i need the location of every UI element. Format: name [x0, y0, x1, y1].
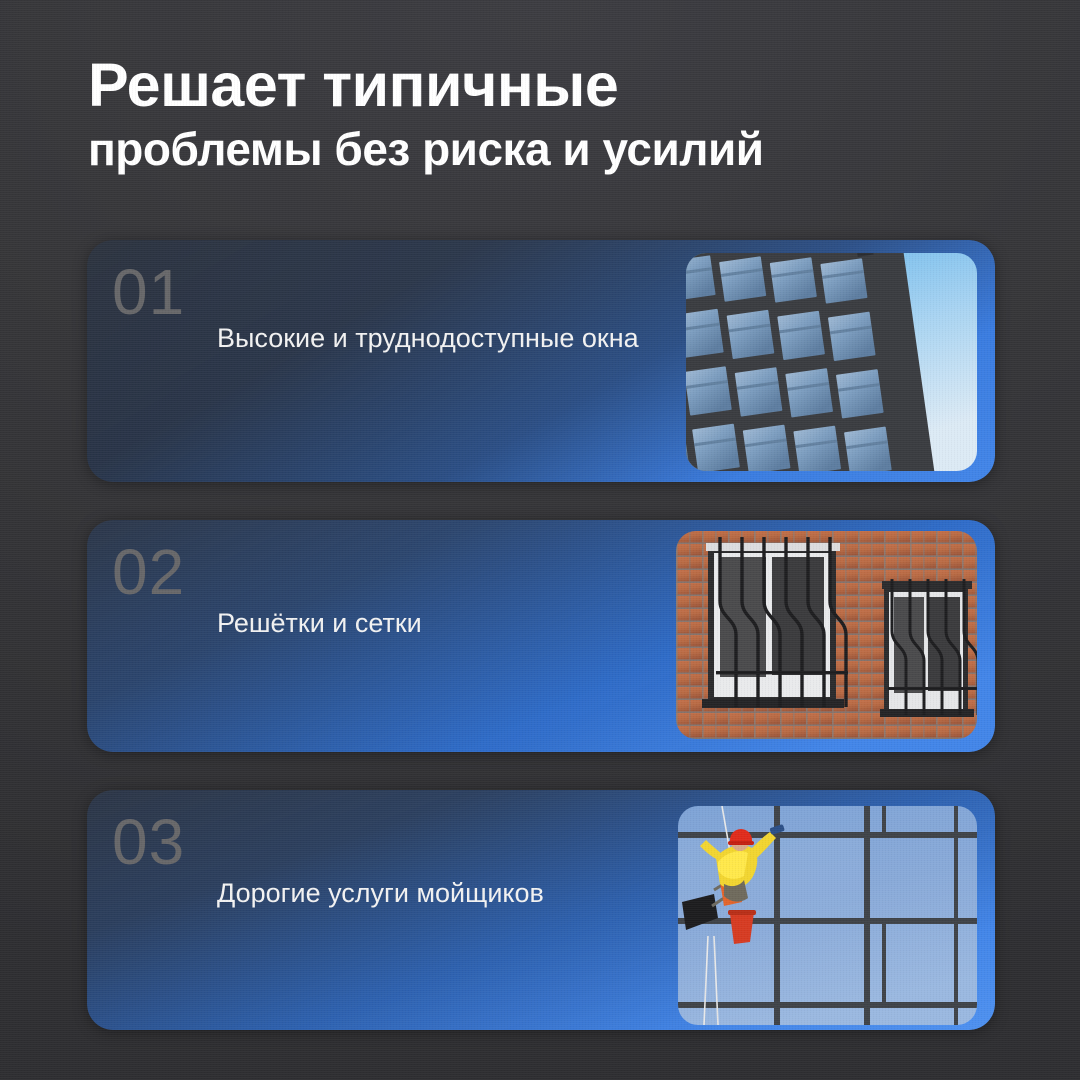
card-label: Высокие и труднодоступные окна: [217, 320, 639, 356]
card-number: 01: [112, 260, 185, 324]
industrial-climber-photo: [678, 806, 977, 1025]
tall-office-building-photo: [686, 253, 977, 471]
page-title-line-1: Решает типичные: [88, 52, 1008, 118]
page-title: Решает типичные проблемы без риска и уси…: [88, 52, 1008, 176]
card-label: Дорогие услуги мойщиков: [217, 875, 544, 911]
card-number: 03: [112, 810, 185, 874]
barred-windows-photo: [676, 531, 977, 739]
card-number: 02: [112, 540, 185, 604]
card-label: Решётки и сетки: [217, 605, 422, 641]
slide-root: Решает типичные проблемы без риска и уси…: [0, 0, 1080, 1080]
page-title-line-2: проблемы без риска и усилий: [88, 122, 1008, 176]
